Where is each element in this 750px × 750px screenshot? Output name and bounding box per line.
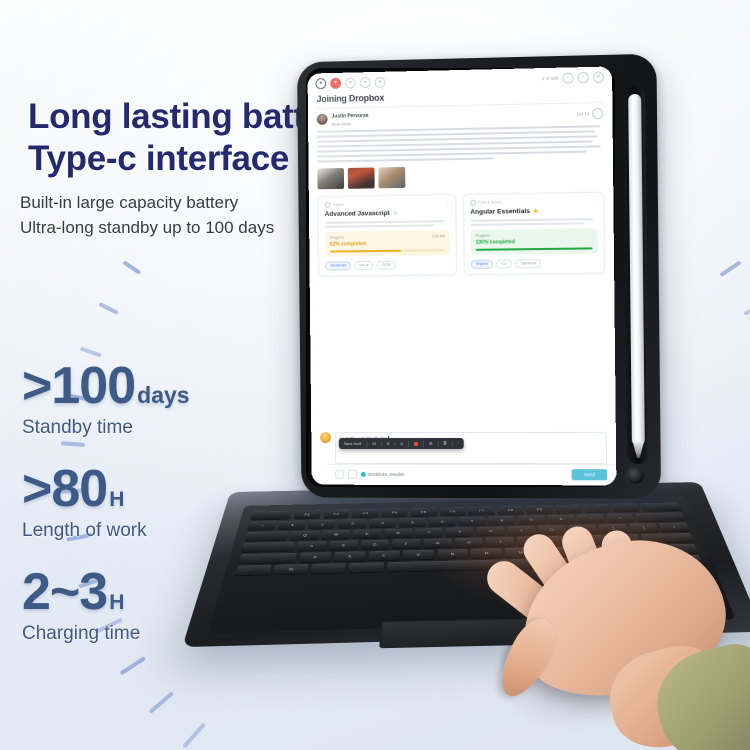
key-esc[interactable] (250, 511, 291, 520)
key-caps[interactable] (241, 542, 295, 552)
ray (688, 689, 716, 714)
progress-meta-row: Progress (476, 232, 593, 238)
key-f10[interactable] (555, 505, 582, 514)
email-message: Justin Pervorse Dear Victor, Oct 14 ⋮ (308, 103, 613, 190)
stat-number: 2~3 (22, 566, 107, 618)
product-marketing-image: Long lasting battery life Type-c interfa… (0, 0, 750, 750)
list-icon[interactable]: ≣ (443, 441, 446, 446)
ray (98, 302, 119, 315)
key-f8[interactable]: F8 (497, 506, 524, 515)
key-cmd[interactable] (349, 562, 384, 572)
stat-number: >100 (22, 360, 135, 412)
card-category: Front & Senior (478, 200, 501, 204)
emoji-icon[interactable] (348, 470, 357, 479)
tag-icon[interactable]: ● (374, 76, 385, 87)
progress-bar (330, 249, 445, 252)
key-[interactable]: , (539, 547, 571, 557)
card-category: English (332, 203, 344, 207)
key-f[interactable]: F (392, 539, 421, 549)
key-5[interactable]: 5 (399, 518, 426, 527)
key-shift[interactable] (238, 553, 297, 564)
key-t[interactable]: T (415, 528, 443, 537)
subtitle-line-2: Ultra-long standby up to 100 days (20, 215, 274, 240)
key-h[interactable]: H (455, 538, 484, 548)
progress-text: 100% completed (476, 238, 593, 246)
more-icon[interactable]: ⋮ (592, 108, 603, 119)
progress-meta-row: Progress 2.5h left (330, 234, 445, 239)
key-ctrl[interactable] (235, 565, 272, 575)
ray (149, 691, 174, 714)
key-0[interactable]: 0 (547, 515, 575, 524)
stat-number: >80 (22, 463, 107, 515)
tag-chip[interactable]: Typescript (515, 259, 542, 268)
message-date-block: Oct 14 ⋮ (577, 108, 604, 120)
key-w[interactable]: W (321, 530, 350, 539)
key-[interactable]: ~ (247, 521, 276, 530)
course-cards: English ⋮ Advanced Javascript ☆ Pr (309, 185, 614, 277)
key-fn[interactable]: fn (273, 564, 309, 574)
location-pin-icon (361, 472, 366, 477)
ray (743, 302, 750, 316)
next-icon[interactable]: › (578, 72, 589, 83)
key-f5[interactable]: F5 (411, 508, 437, 517)
key-o[interactable]: O (538, 525, 567, 534)
key-s[interactable]: S (328, 540, 358, 550)
key-3[interactable]: 3 (338, 519, 366, 528)
key-b[interactable]: B (437, 549, 468, 559)
key-g[interactable]: G (423, 538, 451, 548)
key-r[interactable]: R (384, 529, 412, 538)
toolbar-icon-group: ● ▼ ● ● ● (315, 76, 385, 89)
key-n[interactable]: N (471, 548, 503, 558)
tag-chip[interactable]: CLI (496, 259, 512, 268)
tag-chip[interactable]: Vue.js (354, 261, 374, 270)
mail-icon[interactable]: ● (345, 77, 356, 88)
card-title: Advanced Javascript (325, 210, 390, 218)
font-size-select[interactable]: 14 (372, 442, 376, 446)
key-f11[interactable] (583, 504, 611, 513)
key-f2[interactable]: F2 (323, 510, 350, 519)
progress-meta: 2.5h left (432, 234, 445, 238)
attachment-thumb[interactable] (348, 167, 375, 188)
ray (714, 653, 745, 675)
sender-name: Justin Pervorse (332, 113, 369, 120)
archive-icon[interactable]: ● (315, 78, 326, 89)
key-y[interactable]: Y (446, 527, 474, 536)
delete-icon[interactable]: ▼ (330, 77, 341, 88)
pagination: 2 of 108 ‹ › ⚙ (542, 71, 604, 83)
key-9[interactable]: 9 (518, 515, 546, 524)
key-p[interactable]: P (568, 524, 597, 533)
key-f6[interactable]: F6 (440, 507, 466, 516)
tag-chip[interactable]: Javascript (325, 261, 351, 270)
quote-icon[interactable]: ” (457, 442, 458, 446)
key-2[interactable]: 2 (308, 520, 336, 529)
card-description (325, 220, 450, 227)
key-[interactable]: / (606, 545, 639, 555)
send-button[interactable]: Send (572, 469, 607, 480)
key-d[interactable]: D (360, 540, 389, 550)
bold-icon[interactable]: B (387, 442, 390, 446)
stat-unit: H (109, 489, 124, 510)
folder-icon[interactable]: ● (360, 77, 371, 88)
stat-value: >100 days (22, 360, 272, 412)
progress-box: Progress 100% completed (470, 228, 597, 255)
card-title-row: Advanced Javascript ☆ (325, 209, 450, 218)
key-l[interactable]: L (548, 536, 578, 545)
ray (182, 723, 206, 749)
sender-block: Justin Pervorse Dear Victor, (332, 113, 369, 127)
key-del[interactable] (640, 502, 681, 511)
keyboard-base[interactable]: F1F2F3F4F5F6F7F8F9~1234567890-=QWERTYUIO… (232, 487, 702, 687)
avatar (317, 114, 328, 125)
key-j[interactable]: J (486, 537, 515, 547)
ray (719, 260, 741, 277)
key-6[interactable]: 6 (429, 517, 456, 526)
tag-chip[interactable]: Angular (471, 259, 494, 268)
star-icon[interactable]: ☆ (393, 210, 398, 217)
camera-icon (627, 467, 644, 484)
card-title: Angular Essentials (470, 208, 530, 216)
key-v[interactable]: V (403, 550, 434, 560)
key-x[interactable]: X (333, 551, 365, 561)
key-m[interactable]: M (505, 547, 537, 557)
key-k[interactable]: K (517, 536, 546, 546)
reply-avatar (320, 432, 331, 443)
keyboard-keys[interactable]: F1F2F3F4F5F6F7F8F9~1234567890-=QWERTYUIO… (236, 502, 700, 570)
compose-area: Hi Justin, very like the line Sans Serif… (311, 428, 616, 486)
progress-caption: Progress (330, 235, 344, 239)
key-alt[interactable] (311, 563, 347, 573)
key-f1[interactable]: F1 (293, 510, 321, 519)
underline-icon[interactable]: U (400, 442, 403, 446)
subtitle-line-1: Built-in large capacity battery (20, 190, 274, 215)
email-app: ● ▼ ● ● ● 2 of 108 ‹ › ⚙ Joining Dropbox (308, 66, 617, 485)
ray (122, 260, 141, 275)
font-family-select[interactable]: Sans Serif (344, 442, 361, 446)
key-arrows[interactable] (666, 555, 703, 565)
message-body (317, 125, 604, 162)
card-category-row: English ⋮ (325, 200, 450, 208)
send-row: Stockholm, Sweden Send (326, 464, 616, 480)
attach-icon[interactable] (335, 470, 344, 479)
key-7[interactable]: 7 (459, 517, 486, 526)
subtitle: Built-in large capacity battery Ultra-lo… (20, 190, 274, 240)
reply-row: Hi Justin, very like the line Sans Serif… (311, 428, 616, 464)
key-[interactable]: ; (579, 535, 609, 544)
previous-icon[interactable]: ‹ (562, 72, 573, 83)
stat-unit: H (109, 592, 124, 613)
card-description (470, 218, 597, 225)
stat-item: >100 days Standby time (22, 360, 272, 439)
key-[interactable]: . (572, 546, 605, 556)
key-[interactable]: [ (598, 524, 628, 533)
settings-icon[interactable]: ⚙ (593, 71, 604, 82)
trackpad[interactable] (379, 617, 585, 648)
progress-text: 62% completed (330, 240, 445, 247)
key-shift[interactable] (640, 544, 698, 554)
location-text: Stockholm, Sweden (368, 472, 405, 477)
align-icon[interactable]: ☰ (429, 441, 432, 446)
message-date: Oct 14 (577, 111, 590, 116)
key-f9[interactable]: F9 (526, 505, 553, 514)
ray (80, 347, 102, 358)
category-icon (325, 202, 331, 208)
card-tags: Angular CLI Typescript (471, 258, 598, 268)
key-tab[interactable] (244, 531, 288, 541)
key-f12[interactable] (612, 503, 640, 512)
key-i[interactable]: I (507, 526, 536, 535)
key-enter[interactable] (641, 533, 694, 543)
key-[interactable]: = (606, 513, 635, 522)
tag-chip[interactable]: JSON (376, 260, 395, 269)
key-u[interactable]: U (477, 527, 505, 536)
course-card[interactable]: English ⋮ Advanced Javascript ☆ Pr (318, 194, 457, 276)
key-f4[interactable]: F4 (381, 508, 408, 517)
greeting-text: Dear Victor, (332, 121, 369, 127)
attachment-thumb[interactable] (317, 168, 344, 189)
key-4[interactable]: 4 (369, 519, 396, 528)
key-back[interactable] (635, 512, 685, 521)
tablet-screen[interactable]: ● ▼ ● ● ● 2 of 108 ‹ › ⚙ Joining Dropbox (308, 66, 617, 485)
key-alt[interactable] (629, 556, 665, 566)
key-[interactable]: ] (629, 523, 659, 532)
key-q[interactable]: Q (290, 531, 320, 540)
key-[interactable]: \ (659, 522, 689, 531)
reply-input[interactable]: Hi Justin, very like the line Sans Serif… (335, 432, 607, 464)
progress-box: Progress 2.5h left 62% completed (325, 230, 450, 256)
card-category-row: Front & Senior ⋮ (470, 198, 597, 206)
key-e[interactable]: E (353, 529, 382, 538)
key-f7[interactable]: F7 (468, 506, 495, 515)
pager-text: 2 of 108 (542, 75, 558, 80)
key-8[interactable]: 8 (488, 516, 516, 525)
key-[interactable]: - (576, 514, 605, 523)
formatting-toolbar[interactable]: Sans Serif 14 B I U ☰ (339, 438, 464, 449)
progress-caption: Progress (476, 233, 490, 237)
location-chip[interactable]: Stockholm, Sweden (361, 472, 405, 477)
key-[interactable]: ' (610, 534, 640, 543)
key-1[interactable]: 1 (278, 521, 307, 530)
card-tags: Javascript Vue.js JSON (325, 260, 450, 270)
star-icon[interactable]: ★ (533, 208, 539, 215)
key-cmd[interactable] (592, 557, 628, 567)
text-color-icon[interactable] (414, 442, 418, 446)
message-header: Justin Pervorse Dear Victor, Oct 14 ⋮ (317, 108, 604, 127)
stat-label: Standby time (22, 417, 272, 439)
category-icon (470, 200, 476, 206)
ray (657, 722, 681, 749)
key-z[interactable]: Z (298, 552, 331, 562)
card-menu-icon[interactable]: ⋮ (446, 201, 450, 205)
key-f3[interactable]: F3 (352, 509, 379, 518)
key-c[interactable]: C (368, 551, 400, 561)
progress-bar (476, 247, 593, 250)
stat-unit: days (137, 384, 189, 407)
card-menu-icon[interactable]: ⋮ (593, 199, 597, 203)
attachment-thumb[interactable] (378, 167, 405, 188)
italic-icon[interactable]: I (394, 442, 395, 446)
tablet-device: ● ▼ ● ● ● 2 of 108 ‹ › ⚙ Joining Dropbox (297, 58, 657, 498)
key-a[interactable]: A (296, 541, 326, 551)
course-card[interactable]: Front & Senior ⋮ Angular Essentials ★ (463, 192, 605, 275)
card-title-row: Angular Essentials ★ (470, 207, 597, 216)
